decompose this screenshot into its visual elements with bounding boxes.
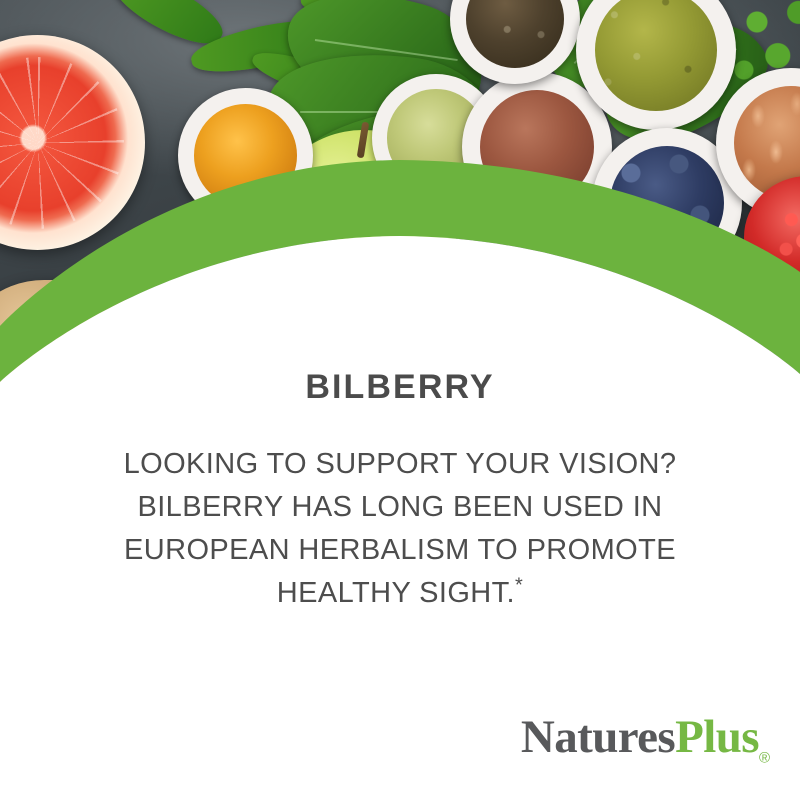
registered-trademark-icon: ® bbox=[759, 749, 770, 766]
bilberry-product-card: BILBERRY LOOKING TO SUPPORT YOUR VISION?… bbox=[0, 0, 800, 800]
card-description: LOOKING TO SUPPORT YOUR VISION? BILBERRY… bbox=[96, 443, 704, 615]
naturesplus-logo[interactable]: NaturesPlus® bbox=[521, 714, 770, 765]
card-description-text: LOOKING TO SUPPORT YOUR VISION? BILBERRY… bbox=[124, 448, 677, 609]
page-title: BILBERRY bbox=[0, 368, 800, 407]
logo-text-plus: Plus bbox=[675, 711, 759, 763]
card-content: BILBERRY LOOKING TO SUPPORT YOUR VISION?… bbox=[0, 0, 800, 800]
footnote-asterisk: * bbox=[515, 574, 523, 596]
logo-text-natures: Natures bbox=[521, 711, 675, 763]
